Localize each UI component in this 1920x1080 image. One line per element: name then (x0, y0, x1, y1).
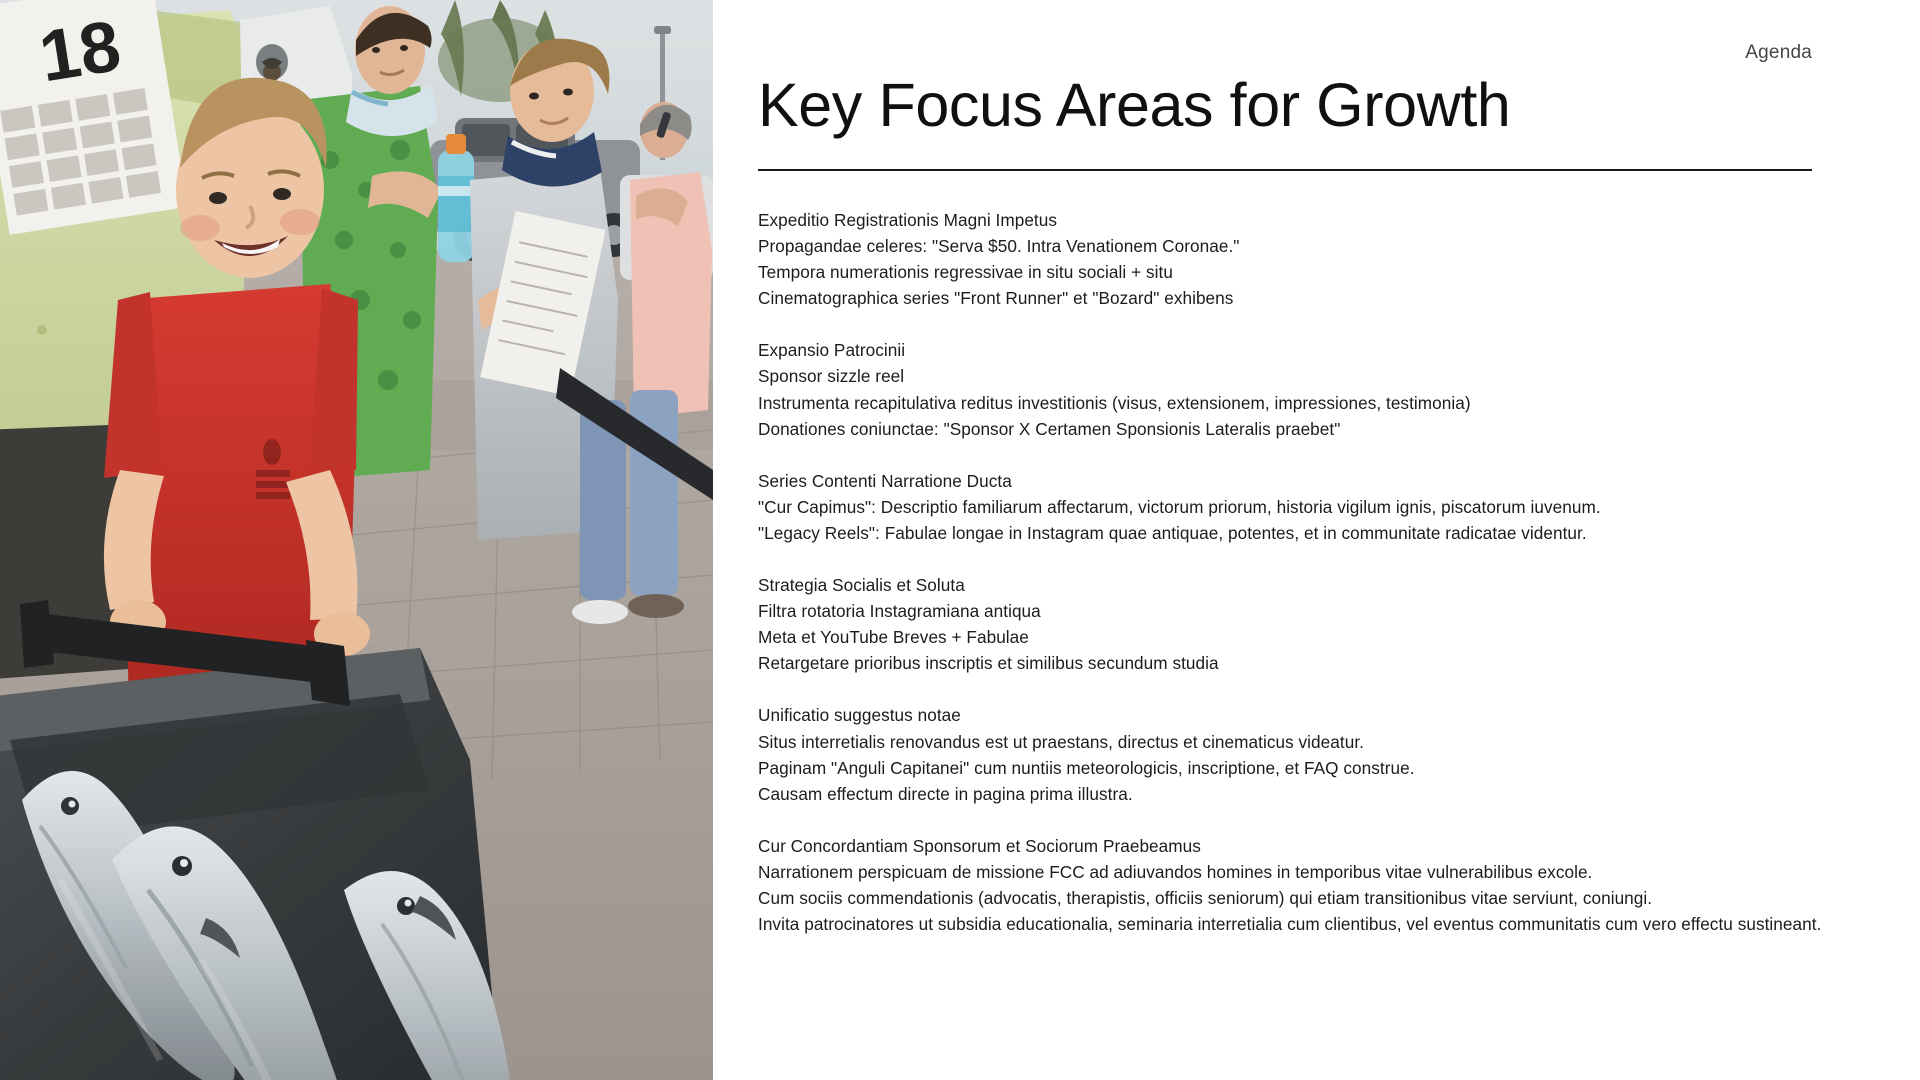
agenda-paragraph-social-and-paid-strategy: Strategia Socialis et Soluta Filtra rota… (758, 572, 1838, 676)
paragraph-heading-line: Expansio Patrocinii (758, 337, 1838, 363)
paragraph-line: Causam effectum directe in pagina prima … (758, 781, 1838, 807)
paragraph-line: Paginam "Anguli Capitanei" cum nuntiis m… (758, 755, 1838, 781)
paragraph-line: Cinematographica series "Front Runner" e… (758, 285, 1838, 311)
agenda-paragraph-story-driven-content-series: Series Contenti Narratione Ducta "Cur Ca… (758, 468, 1838, 546)
slide-photo: 18 (0, 0, 713, 1080)
paragraph-line: Cum sociis commendationis (advocatis, th… (758, 885, 1838, 911)
paragraph-heading-line: Unificatio suggestus notae (758, 702, 1838, 728)
paragraph-line: Propagandae celeres: "Serva $50. Intra V… (758, 233, 1838, 259)
agenda-paragraph-why-sponsor-partner-alignment: Cur Concordantiam Sponsorum et Sociorum … (758, 833, 1838, 937)
paragraph-line: Meta et YouTube Breves + Fabulae (758, 624, 1838, 650)
paragraph-line: Narrationem perspicuam de missione FCC a… (758, 859, 1838, 885)
agenda-paragraph-sponsorship-expansion: Expansio Patrocinii Sponsor sizzle reel … (758, 337, 1838, 441)
slide-content: Agenda Key Focus Areas for Growth Expedi… (713, 0, 1920, 1080)
agenda-body: Expeditio Registrationis Magni Impetus P… (758, 207, 1838, 937)
presentation-slide: 18 (0, 0, 1920, 1080)
paragraph-line: "Legacy Reels": Fabulae longae in Instag… (758, 520, 1838, 546)
agenda-paragraph-brand-platform-unification: Unificatio suggestus notae Situs interre… (758, 702, 1838, 806)
paragraph-line: Retargetare prioribus inscriptis et simi… (758, 650, 1838, 676)
agenda-eyebrow-label: Agenda (1745, 41, 1812, 65)
youth-anglers-photo: 18 (0, 0, 713, 1080)
paragraph-line: Instrumenta recapitulativa reditus inves… (758, 390, 1838, 416)
paragraph-line: "Cur Capimus": Descriptio familiarum aff… (758, 494, 1838, 520)
page-title: Key Focus Areas for Growth (758, 68, 1510, 142)
title-divider-rule (758, 169, 1812, 171)
paragraph-line: Sponsor sizzle reel (758, 363, 1838, 389)
paragraph-line: Donationes coniunctae: "Sponsor X Certam… (758, 416, 1838, 442)
paragraph-line: Filtra rotatoria Instagramiana antiqua (758, 598, 1838, 624)
paragraph-line: Situs interretialis renovandus est ut pr… (758, 729, 1838, 755)
paragraph-heading-line: Series Contenti Narratione Ducta (758, 468, 1838, 494)
paragraph-heading-line: Strategia Socialis et Soluta (758, 572, 1838, 598)
paragraph-heading-line: Cur Concordantiam Sponsorum et Sociorum … (758, 833, 1838, 859)
paragraph-line: Tempora numerationis regressivae in situ… (758, 259, 1838, 285)
agenda-paragraph-registration-momentum: Expeditio Registrationis Magni Impetus P… (758, 207, 1838, 311)
paragraph-heading-line: Expeditio Registrationis Magni Impetus (758, 207, 1838, 233)
paragraph-line: Invita patrocinatores ut subsidia educat… (758, 911, 1838, 937)
